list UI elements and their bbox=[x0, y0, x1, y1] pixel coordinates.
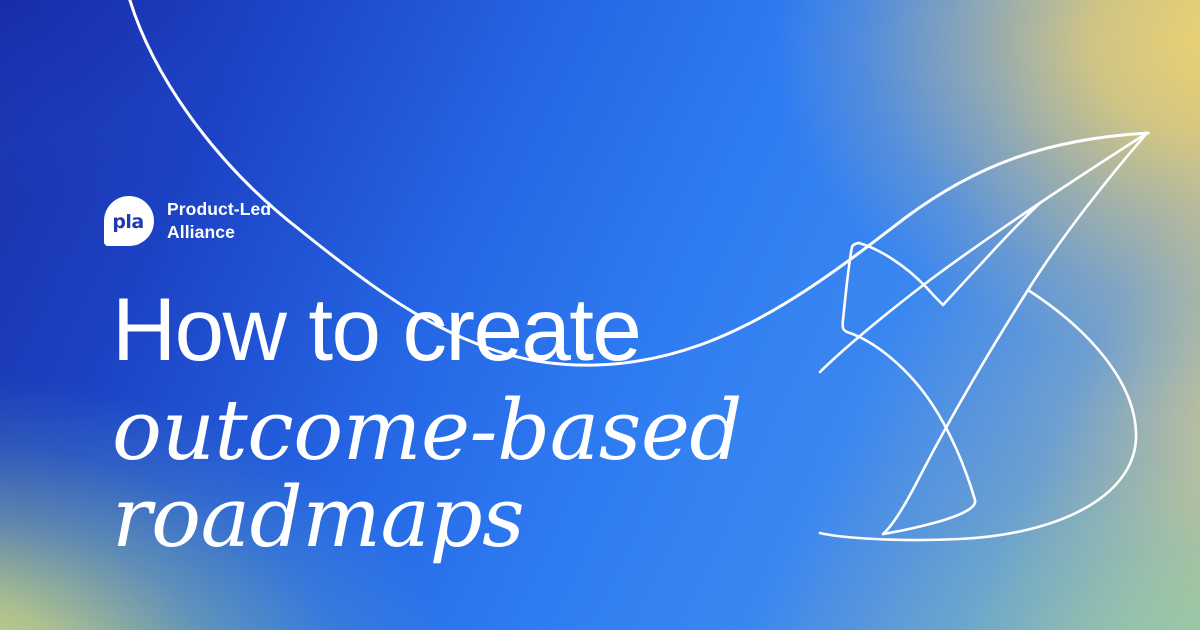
leaf-loop-lower-path bbox=[883, 290, 1028, 534]
brand-name-line-1: Product-Led bbox=[167, 198, 271, 221]
brand-name-line-2: Alliance bbox=[167, 221, 271, 244]
brand-logo-lockup[interactable]: pla Product-Led Alliance bbox=[104, 196, 271, 246]
headline-line-3: roadmaps bbox=[112, 476, 892, 561]
social-banner-canvas: pla Product-Led Alliance How to create o… bbox=[0, 0, 1200, 630]
headline-line-1: How to create bbox=[112, 286, 892, 373]
headline-block: How to create outcome-based roadmaps bbox=[112, 286, 892, 561]
brand-wordmark: Product-Led Alliance bbox=[167, 198, 271, 244]
pla-monogram-text: pla bbox=[112, 213, 143, 232]
pla-speech-bubble-icon: pla bbox=[104, 196, 154, 246]
headline-line-2: outcome-based bbox=[112, 389, 892, 474]
